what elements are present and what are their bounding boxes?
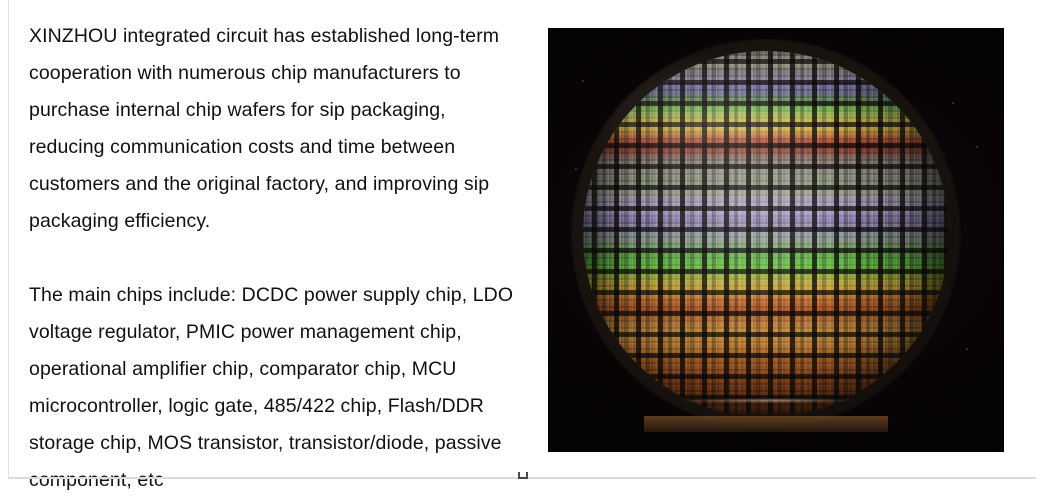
dust-speck [976, 146, 978, 148]
text-column: XINZHOU integrated circuit has establish… [9, 0, 529, 477]
wafer-bottom-flat [644, 416, 887, 432]
paragraph-company-cooperation: XINZHOU integrated circuit has establish… [29, 18, 515, 240]
column-resize-handle[interactable] [518, 472, 528, 479]
bond-pad-clusters [583, 51, 950, 418]
page-root: XINZHOU integrated circuit has establish… [0, 0, 1044, 486]
image-column [529, 0, 1036, 477]
paragraph-main-chips: The main chips include: DCDC power suppl… [29, 277, 515, 499]
dust-speck [966, 348, 968, 350]
silicon-wafer [570, 38, 962, 430]
wafer-photo [548, 28, 1004, 452]
wafer-reflection-streak [680, 399, 852, 402]
wafer-disc [570, 38, 962, 430]
die-array-field [583, 51, 950, 418]
